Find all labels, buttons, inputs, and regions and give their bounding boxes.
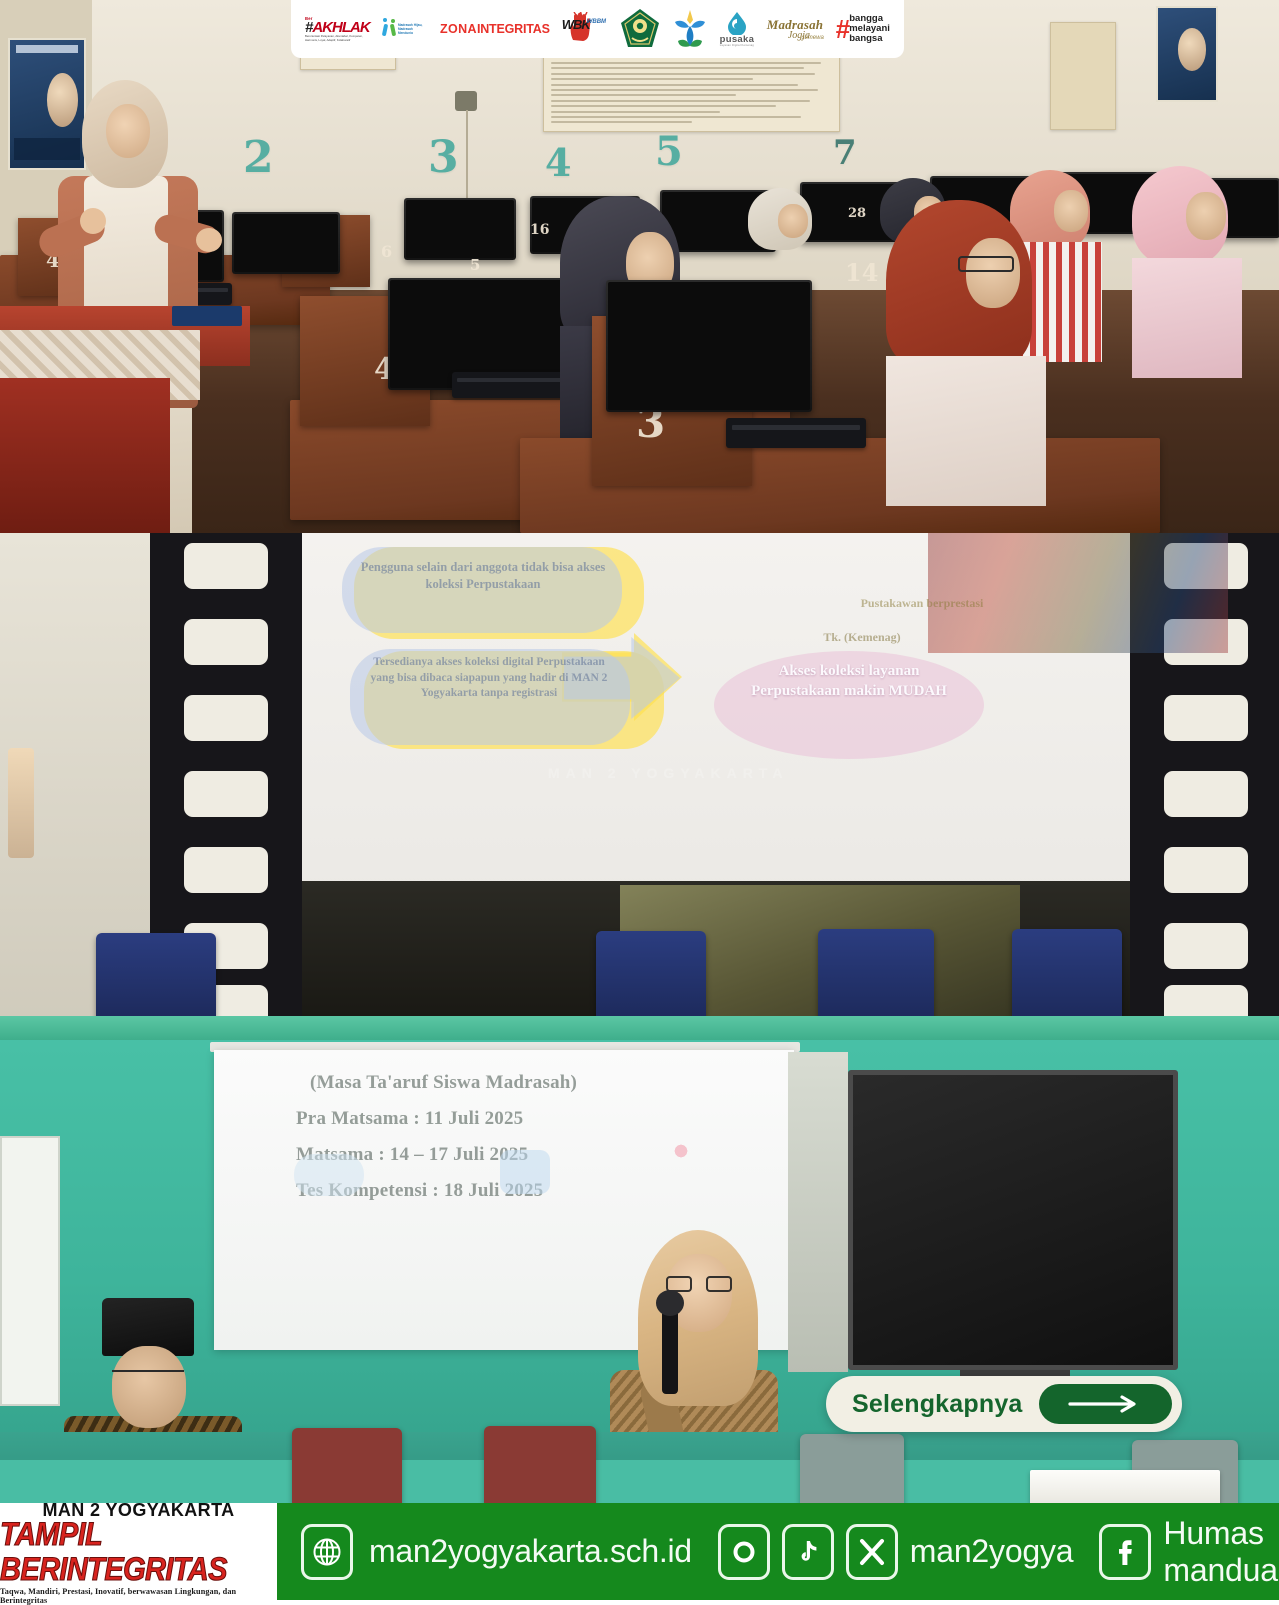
instagram-icon[interactable]	[718, 1524, 770, 1580]
madrasah-hijau-icon	[383, 18, 396, 40]
akhlak-logo: Ber #AKHLAK Berorientasi Pelayanan, Akun…	[305, 6, 371, 52]
wall-clock	[455, 91, 477, 111]
lab-participant-1	[748, 188, 818, 258]
pusaka-logo: pusaka Layanan Digital Kemenag	[720, 6, 755, 52]
selengkapnya-button[interactable]: Selengkapnya	[826, 1376, 1182, 1432]
official-glasses	[112, 1370, 184, 1386]
seminar-chair-2	[484, 1426, 596, 1503]
seminar-whiteboard	[0, 1136, 60, 1406]
pusaka-droplet-icon	[727, 11, 747, 35]
wall-poster-rules	[543, 54, 840, 132]
slide-line-0: (Masa Ta'aruf Siswa Madrasah)	[310, 1072, 577, 1094]
tut-wuri-handayani-logo	[672, 6, 708, 52]
footer-brand-block: MAN 2 YOGYAKARTA TAMPIL BERINTEGRITAS Ta…	[0, 1503, 277, 1600]
wall-number-3: 3	[428, 132, 459, 183]
bangga-melayani-bangsa-logo: # bangga melayani bangsa	[836, 6, 890, 52]
slide-bubble-2-text: Tersedianya akses koleksi digital Perpus…	[360, 655, 618, 702]
wall-number-5: 5	[655, 128, 683, 175]
wall-cabinet	[788, 1052, 848, 1372]
slide-decor-cloud	[294, 1154, 364, 1196]
arrow-right-icon	[1039, 1384, 1172, 1424]
footer-facebook-handle[interactable]: Humas mandua	[1163, 1515, 1279, 1589]
wall-poster-right	[1156, 6, 1218, 102]
wall-number-4: 4	[545, 140, 571, 185]
wbk-wbbm-logo: WBK WBBM	[562, 10, 608, 48]
panel-library-presentation: Pengguna selain dari anggota tidak bisa …	[0, 533, 1279, 1040]
slide-line-1: Pra Matsama : 11 Juli 2025	[296, 1108, 523, 1130]
desk-number-16: 16	[530, 222, 549, 238]
lab-monitor-front	[606, 280, 812, 412]
slide-photo-caption-1: Pustakawan berprestasi	[822, 595, 1022, 611]
desk-number-28: 28	[848, 206, 866, 221]
footer-social-handle[interactable]: man2yogya	[910, 1533, 1074, 1570]
footer-slogan: TAMPIL BERINTEGRITAS	[0, 1519, 277, 1588]
slide-decor-snowflake	[670, 1140, 692, 1162]
chair-left	[96, 933, 216, 1019]
lab-monitor-back-3	[404, 198, 516, 260]
desk-number-5: 5	[470, 256, 480, 274]
lab-participant-4	[1132, 166, 1238, 356]
lab-red-curtain	[0, 378, 170, 533]
madrasah-hijau-logo: Madrasah Hijau, Madrasah Mendunia	[383, 6, 428, 52]
kemenag-crest-icon	[620, 8, 660, 50]
slide-photo-caption-2: Tk. (Kemenag)	[762, 629, 962, 645]
slide-photo	[928, 533, 1228, 653]
tiktok-icon[interactable]	[782, 1524, 834, 1580]
wall-number-7: 7	[833, 133, 857, 173]
facebook-icon[interactable]	[1099, 1524, 1151, 1580]
x-twitter-icon[interactable]	[846, 1524, 898, 1580]
desk-number-14: 14	[845, 258, 878, 287]
selengkapnya-label: Selengkapnya	[852, 1390, 1023, 1419]
page-footer: MAN 2 YOGYAKARTA TAMPIL BERINTEGRITAS Ta…	[0, 1503, 1279, 1600]
panel-computer-lab: 2 3 4 5 7 42 6 5 16 28 4	[0, 0, 1279, 533]
madrasah-jogja-istimewa-logo: Madrasah Jogja Istimewa	[766, 6, 824, 52]
institution-logo-banner: Ber #AKHLAK Berorientasi Pelayanan, Akun…	[291, 0, 904, 58]
screen-watermark: MAN 2 YOGYAKARTA	[548, 765, 788, 781]
chair-right	[818, 929, 934, 1019]
wall-poster-right-top	[1050, 22, 1116, 130]
seminar-chair-3	[800, 1434, 904, 1503]
seminar-chair-1	[292, 1428, 402, 1503]
kemenag-logo	[620, 6, 660, 52]
zona-integritas-logo: ZONA INTEGRITAS	[440, 6, 550, 52]
lab-monitor-back-2	[232, 212, 340, 274]
wall-number-2: 2	[243, 132, 274, 183]
hash-icon: #	[836, 19, 847, 40]
presentation-table	[0, 1016, 1279, 1040]
footer-social-block: man2yogyakarta.sch.id man2yogya Humas ma…	[277, 1503, 1279, 1600]
wall-decoration	[8, 748, 34, 858]
lab-book	[172, 306, 242, 326]
desk-number-6: 6	[381, 242, 392, 261]
globe-icon[interactable]	[301, 1524, 353, 1580]
footer-tagline: Taqwa, Mandiri, Prestasi, Inovatif, berw…	[0, 1587, 277, 1605]
chair-far-right	[1012, 929, 1122, 1019]
slide-decor-blue	[500, 1150, 550, 1194]
open-book	[1030, 1470, 1220, 1503]
chair-mid	[596, 931, 706, 1019]
slide-oval-text: Akses koleksi layanan Perpustakaan makin…	[734, 661, 964, 702]
slide-bubble-1-text: Pengguna selain dari anggota tidak bisa …	[354, 559, 612, 593]
seminar-tv-display	[848, 1070, 1178, 1370]
lab-keyboard-front	[726, 418, 866, 448]
panel-seminar-room: (Masa Ta'aruf Siswa Madrasah) Pra Matsam…	[0, 1040, 1279, 1503]
footer-website-url[interactable]: man2yogyakarta.sch.id	[369, 1533, 692, 1570]
tut-wuri-icon	[672, 8, 708, 50]
lab-participant-6	[886, 200, 1046, 500]
